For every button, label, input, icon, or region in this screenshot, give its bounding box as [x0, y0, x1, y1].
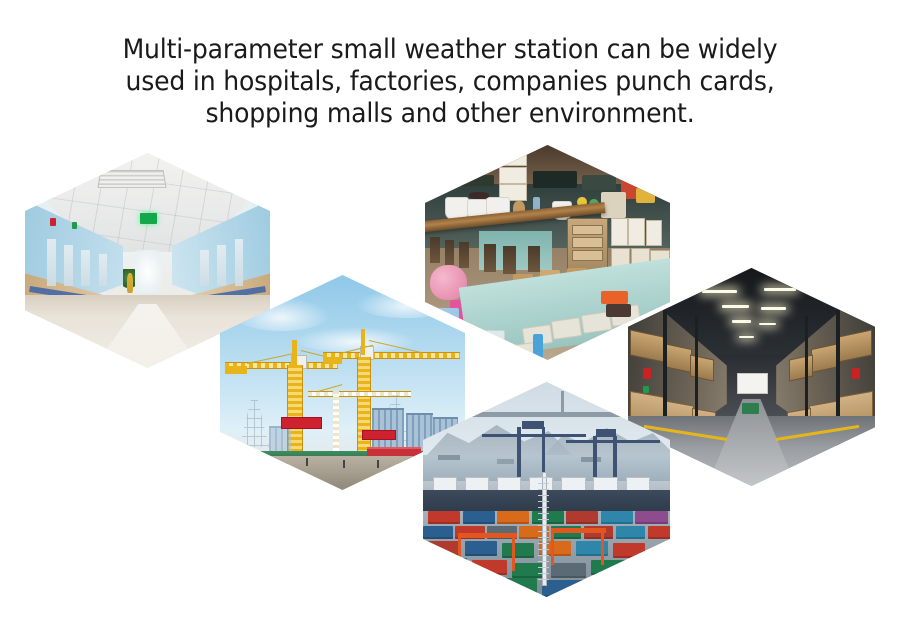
ceiling-light [732, 320, 752, 323]
corridor-door [99, 254, 108, 286]
distant-vessel [497, 459, 514, 463]
ceiling-vent-icon [97, 170, 166, 188]
rtg-crane-leg [458, 533, 461, 572]
shipping-container [433, 558, 468, 573]
shipping-container [648, 526, 670, 539]
shipping-container [635, 511, 667, 524]
shipping-container [492, 578, 536, 595]
apartment-block [269, 426, 291, 454]
shipping-container [465, 541, 497, 556]
rtg-crane-leg [512, 533, 515, 572]
worker-figure [343, 460, 345, 469]
cabinet-drawer [572, 250, 603, 261]
rtg-crane-beam [458, 533, 517, 538]
cabinet-drawer [572, 225, 603, 236]
hanging-tool [445, 240, 455, 266]
shipping-container [613, 543, 645, 558]
glass-jar [484, 330, 506, 360]
shelf-goods [582, 175, 616, 190]
shipping-container [428, 541, 460, 556]
orange-notebook [601, 291, 628, 304]
shipping-container [630, 558, 665, 573]
fire-point-sign [643, 368, 652, 379]
crane-counterweight [323, 357, 343, 364]
crane-counterweight [225, 366, 247, 374]
ceiling-light [761, 307, 786, 310]
hanging-tool [503, 246, 515, 274]
dark-pouch [606, 304, 631, 317]
crane-jib [323, 352, 460, 359]
corridor-door [235, 239, 244, 286]
gantry-crane-boom [482, 434, 586, 437]
distant-vessel [581, 457, 601, 462]
hanging-display-pack [499, 167, 528, 184]
gantry-crane-leg [517, 427, 521, 483]
aisle-information-sign [737, 373, 769, 395]
shelf-goods [533, 171, 577, 188]
shipping-container [428, 511, 460, 524]
cabinet-drawer [572, 237, 603, 248]
shelf-goods [636, 188, 656, 203]
worker-figure [306, 458, 308, 467]
shipping-container [423, 526, 453, 539]
ceiling-light [759, 323, 776, 326]
ceiling-light [764, 288, 796, 291]
crane-apex [361, 329, 365, 355]
ceiling-light [702, 290, 737, 293]
pegboard-pack [628, 218, 645, 246]
wall-sign [50, 218, 56, 227]
shipping-container [566, 511, 598, 524]
emergency-exit-icon [140, 213, 157, 224]
shipping-container [616, 526, 646, 539]
rtg-crane-leg [601, 528, 604, 565]
ceiling-light [739, 336, 754, 338]
fire-point-sign [852, 368, 861, 379]
shipping-container [463, 511, 495, 524]
hanging-display-pack [499, 149, 528, 166]
corridor-door [81, 250, 90, 287]
rtg-crane-beam [551, 528, 605, 533]
spray-bottle [533, 334, 543, 358]
shipping-container [591, 576, 631, 593]
site-banner [362, 430, 396, 440]
distant-vessel [438, 455, 460, 460]
exit-marker [643, 386, 649, 394]
shipping-container [472, 560, 507, 575]
worker-figure [377, 460, 379, 469]
crane-apex [292, 340, 297, 366]
box-stack [601, 192, 626, 218]
promo-banner: Multi-parameter small weather station ca… [0, 0, 900, 636]
shelf-goods [440, 175, 494, 186]
corridor-vanishing-point [133, 250, 162, 293]
hanging-tool [459, 242, 469, 268]
hanging-tool [430, 237, 440, 263]
shipping-container [591, 560, 626, 575]
power-pylon [240, 400, 269, 447]
person-figure [127, 273, 133, 292]
hanging-tool [528, 246, 540, 272]
shipping-container [601, 511, 633, 524]
pegboard-pack [611, 218, 628, 246]
ceiling-light [722, 305, 749, 308]
forklift-silhouette [742, 403, 759, 414]
hat-decor [469, 192, 489, 198]
corridor-door [200, 250, 209, 287]
shipping-container [551, 563, 586, 578]
hexagon-image-collage [0, 0, 900, 636]
lattice-mast-cross [538, 472, 549, 584]
corridor-door [64, 245, 73, 286]
corridor-door [47, 239, 56, 286]
shipping-container [502, 543, 534, 558]
pegboard-pack [646, 220, 663, 246]
wall-sign [72, 222, 77, 230]
corridor-door [217, 245, 226, 286]
crane-mast [333, 391, 339, 460]
bridge-tower [561, 391, 563, 417]
shipping-container [497, 511, 529, 524]
rtg-crane-leg [551, 528, 554, 565]
hanging-tool [484, 244, 496, 272]
site-banner [281, 417, 322, 429]
